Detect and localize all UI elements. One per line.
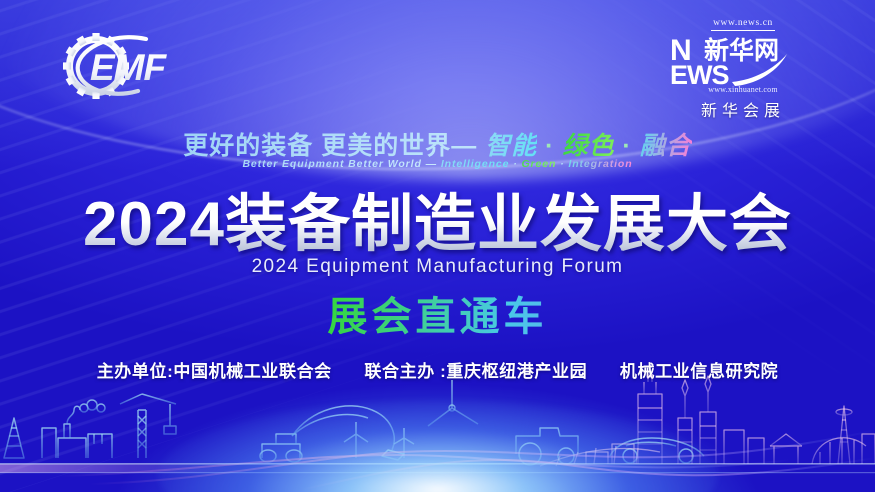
tagline-cn-part1: 更好的装备 更美的世界— — [183, 132, 477, 160]
car-icon — [606, 438, 708, 463]
xinhua-logo[interactable]: www.news.cn N EWS 新华网 www.xinhuanet.com … — [668, 18, 818, 114]
wind-turbine-icon — [428, 380, 478, 458]
page-title: 2024装备制造业发展大会 — [0, 188, 875, 262]
emf-logo-text: EMF — [90, 47, 168, 88]
radio-tower-icon — [836, 392, 852, 464]
tagline-cn-part3: 绿色 — [562, 132, 614, 160]
subheadline: 展会直通车 — [0, 293, 875, 341]
tagline-en: Better Equipment Better World — Intellig… — [0, 158, 875, 171]
tagline-sep-2: · — [622, 132, 631, 160]
emf-logo[interactable]: EMF — [58, 27, 180, 105]
xinhua-url-top: www.news.cn — [711, 18, 775, 31]
tagline-cn-part4: 融合 — [640, 132, 692, 160]
tagline-cn-part2: 智能 — [485, 132, 537, 160]
xinhua-exhibition-label: 新华会展 — [701, 97, 785, 121]
tower-crane-icon — [112, 394, 196, 458]
bottom-scene-graphic — [0, 372, 875, 492]
bottom-scene — [0, 372, 875, 492]
tagline-en-part4: Integration — [568, 158, 632, 170]
xinhua-wordmark-graphic: N EWS 新华网 — [669, 32, 817, 88]
pink-ribbon — [60, 430, 875, 490]
xinhua-wordmark: N EWS 新华网 — [669, 32, 817, 88]
tagline-sep-1: · — [545, 132, 554, 160]
page-title-en: 2024 Equipment Manufacturing Forum — [0, 256, 875, 278]
oil-derrick-icon — [0, 418, 34, 458]
tagline-en-part2: Intelligence — [441, 158, 510, 170]
emf-logo-graphic: EMF — [58, 27, 180, 105]
tractor-icon — [510, 428, 592, 465]
city-skyline — [540, 374, 875, 466]
tagline-cn: 更好的装备 更美的世界— 智能 · 绿色 · 融合 — [0, 131, 875, 161]
tagline-en-sep-2: · — [560, 158, 564, 170]
xinhua-news-cn: 新华网 — [704, 36, 779, 65]
tagline-en-part3: Green — [521, 158, 556, 170]
tagline-en-part1: Better Equipment Better World — — [242, 158, 437, 170]
promotional-banner: EMF www.news.cn N EWS 新华网 www.xinhuanet.… — [0, 0, 875, 492]
factory-icon — [38, 400, 120, 458]
mid-buildings-icon — [586, 430, 764, 464]
twin-towers-icon — [678, 376, 716, 464]
tagline-en-sep-1: · — [513, 158, 517, 170]
